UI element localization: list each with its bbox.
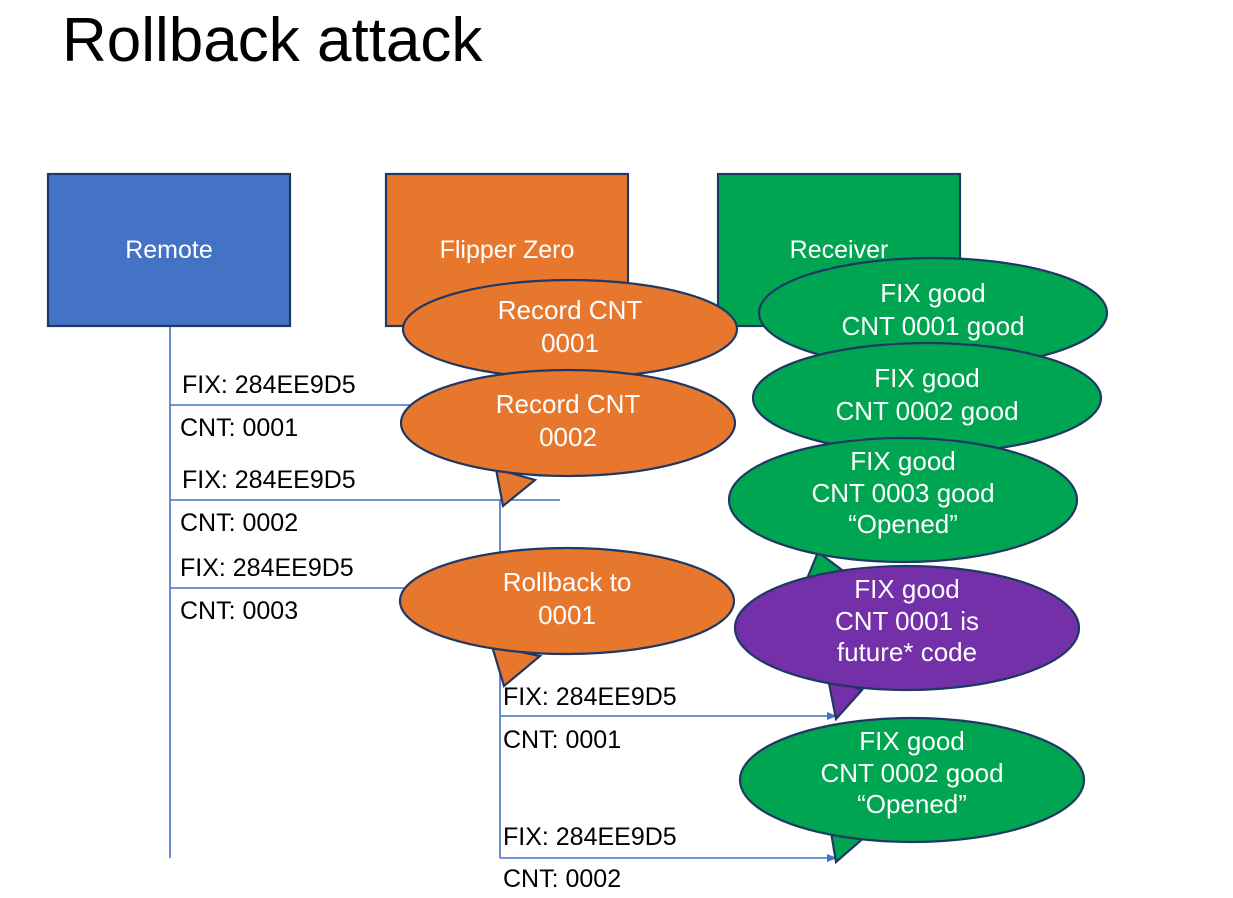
message-5-cnt: CNT: 0002 — [503, 864, 621, 894]
message-2-cnt: CNT: 0002 — [180, 508, 298, 538]
message-3-fix: FIX: 284EE9D5 — [180, 553, 354, 583]
message-1-fix: FIX: 284EE9D5 — [182, 370, 356, 400]
flipper-bubble-3[interactable] — [400, 548, 734, 686]
message-4-fix: FIX: 284EE9D5 — [503, 682, 677, 712]
sequence-diagram — [0, 0, 1233, 898]
message-4-cnt: CNT: 0001 — [503, 725, 621, 755]
message-2-fix: FIX: 284EE9D5 — [182, 465, 356, 495]
message-1-cnt: CNT: 0001 — [180, 413, 298, 443]
actor-box-remote[interactable] — [48, 174, 290, 326]
receiver-bubble-4-alert[interactable] — [735, 566, 1079, 719]
flipper-bubble-2[interactable] — [401, 370, 735, 506]
message-5-fix: FIX: 284EE9D5 — [503, 822, 677, 852]
slide-canvas: Rollback attack — [0, 0, 1233, 898]
message-3-cnt: CNT: 0003 — [180, 596, 298, 626]
receiver-bubble-5[interactable] — [740, 718, 1084, 862]
